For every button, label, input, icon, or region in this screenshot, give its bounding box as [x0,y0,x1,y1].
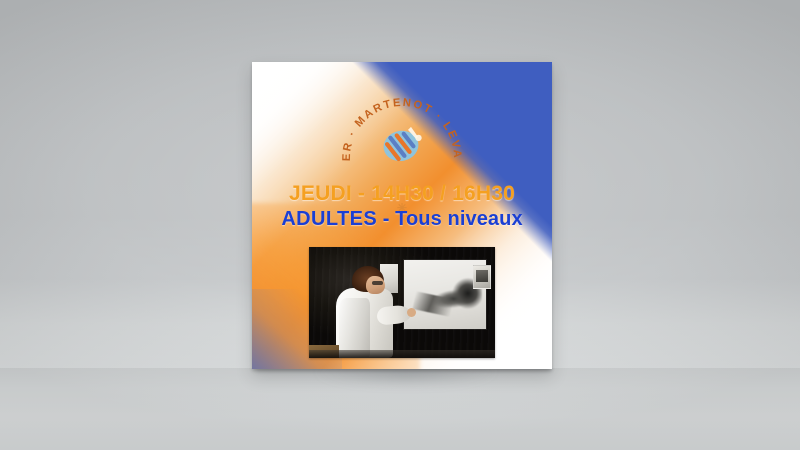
photo-framed-picture-right [473,265,492,289]
audience-detail: Tous niveaux [395,208,523,230]
audience-line: ADULTES - Tous niveaux [252,208,552,230]
person-face [366,276,384,294]
poster-surface: ATELIER · MARTENOT · LEVALLOIS [252,62,552,369]
poster: ATELIER · MARTENOT · LEVALLOIS [252,62,552,369]
workshop-photo [309,247,495,358]
scene: ATELIER · MARTENOT · LEVALLOIS [0,0,800,450]
floor-surface [0,368,800,450]
audience-caps: ADULTES [281,208,377,230]
audience-separator: - [377,208,395,230]
photo-person [333,266,404,358]
headline-block: JEUDI - 14H30 / 16H30 ADULTES - Tous niv… [252,182,552,230]
person-glasses [372,281,383,286]
palette-brush-emblem-icon [377,121,427,167]
schedule-line: JEUDI - 14H30 / 16H30 [252,182,552,206]
photo-floor-line [309,350,495,358]
